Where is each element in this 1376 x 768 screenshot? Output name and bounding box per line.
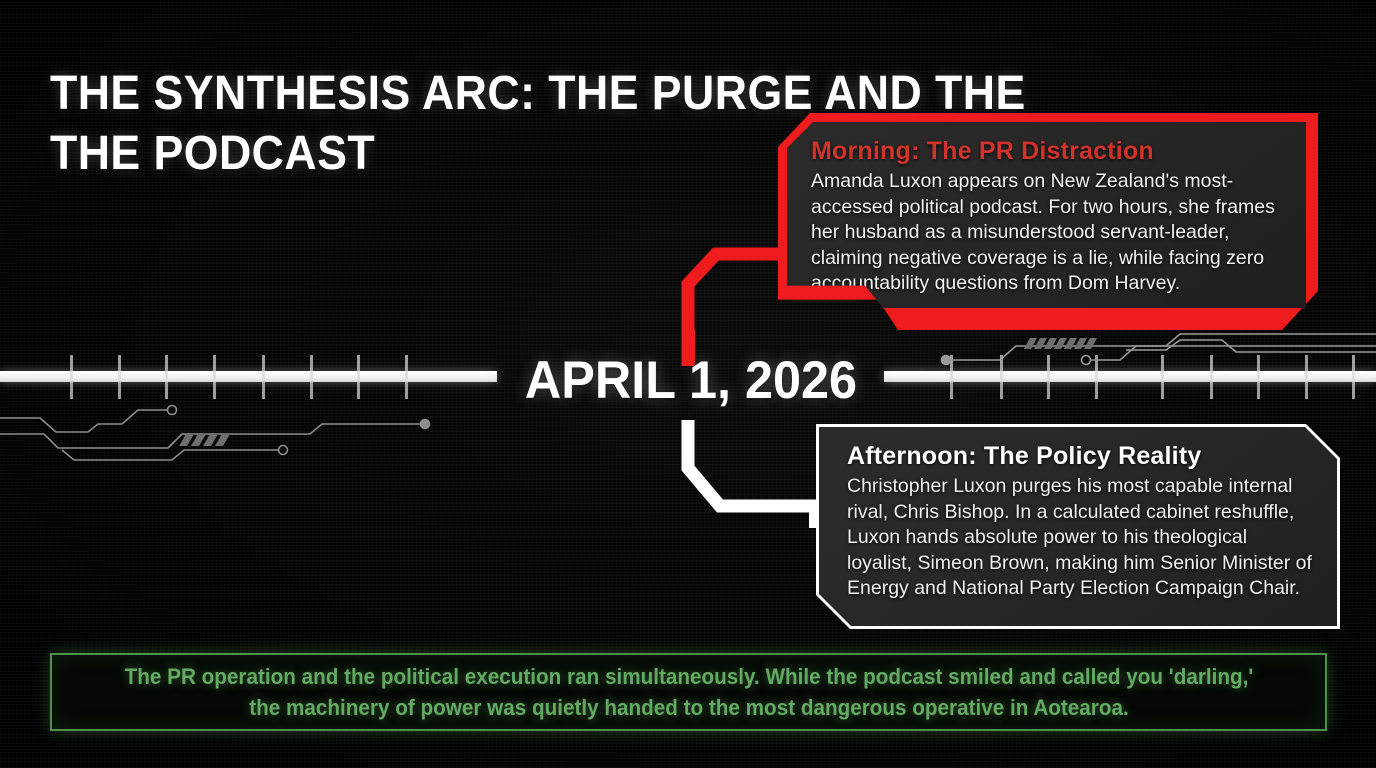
afternoon-card-kicker: Afternoon: The Policy Reality	[847, 441, 1317, 472]
timeline-tick	[118, 355, 121, 399]
timeline-tick	[1210, 355, 1213, 399]
circuit-decoration-right	[930, 324, 1376, 374]
timeline-tick	[70, 355, 73, 399]
timeline-axis-right	[884, 371, 1376, 382]
morning-callout-card: Morning: The PR Distraction Amanda Luxon…	[778, 113, 1318, 330]
afternoon-callout-card: Afternoon: The Policy Reality Christophe…	[816, 424, 1340, 629]
timeline-tick	[1047, 355, 1050, 399]
summary-banner: The PR operation and the political execu…	[50, 653, 1327, 731]
afternoon-card-inner: Afternoon: The Policy Reality Christophe…	[819, 427, 1337, 626]
afternoon-card-notch	[809, 512, 817, 528]
morning-card-body: Amanda Luxon appears on New Zealand's mo…	[811, 169, 1286, 297]
timeline-tick	[213, 355, 216, 399]
morning-card-kicker: Morning: The PR Distraction	[811, 136, 1286, 166]
timeline-axis-left	[0, 371, 497, 382]
timeline-tick	[1000, 355, 1003, 399]
timeline-tick	[357, 355, 360, 399]
timeline-tick	[1161, 355, 1164, 399]
timeline-tick	[310, 355, 313, 399]
timeline-tick	[165, 355, 168, 399]
timeline-date-label: APRIL 1, 2026	[515, 352, 867, 410]
circuit-decoration-left	[0, 398, 440, 466]
infographic-canvas: THE SYNTHESIS ARC: THE PURGE AND THE THE…	[0, 0, 1376, 768]
timeline-tick	[1257, 355, 1260, 399]
afternoon-card-body: Christopher Luxon purges his most capabl…	[847, 474, 1317, 602]
summary-banner-text: The PR operation and the political execu…	[110, 661, 1266, 723]
timeline-tick	[950, 355, 953, 399]
connector-white	[672, 420, 832, 545]
circuit-hash-marks	[1040, 330, 1110, 344]
timeline-tick	[405, 355, 408, 399]
timeline-tick	[1352, 355, 1355, 399]
morning-card-inner: Morning: The PR Distraction Amanda Luxon…	[787, 122, 1306, 308]
timeline-tick	[262, 355, 265, 399]
timeline-tick	[1305, 355, 1308, 399]
timeline-tick	[1095, 355, 1098, 399]
